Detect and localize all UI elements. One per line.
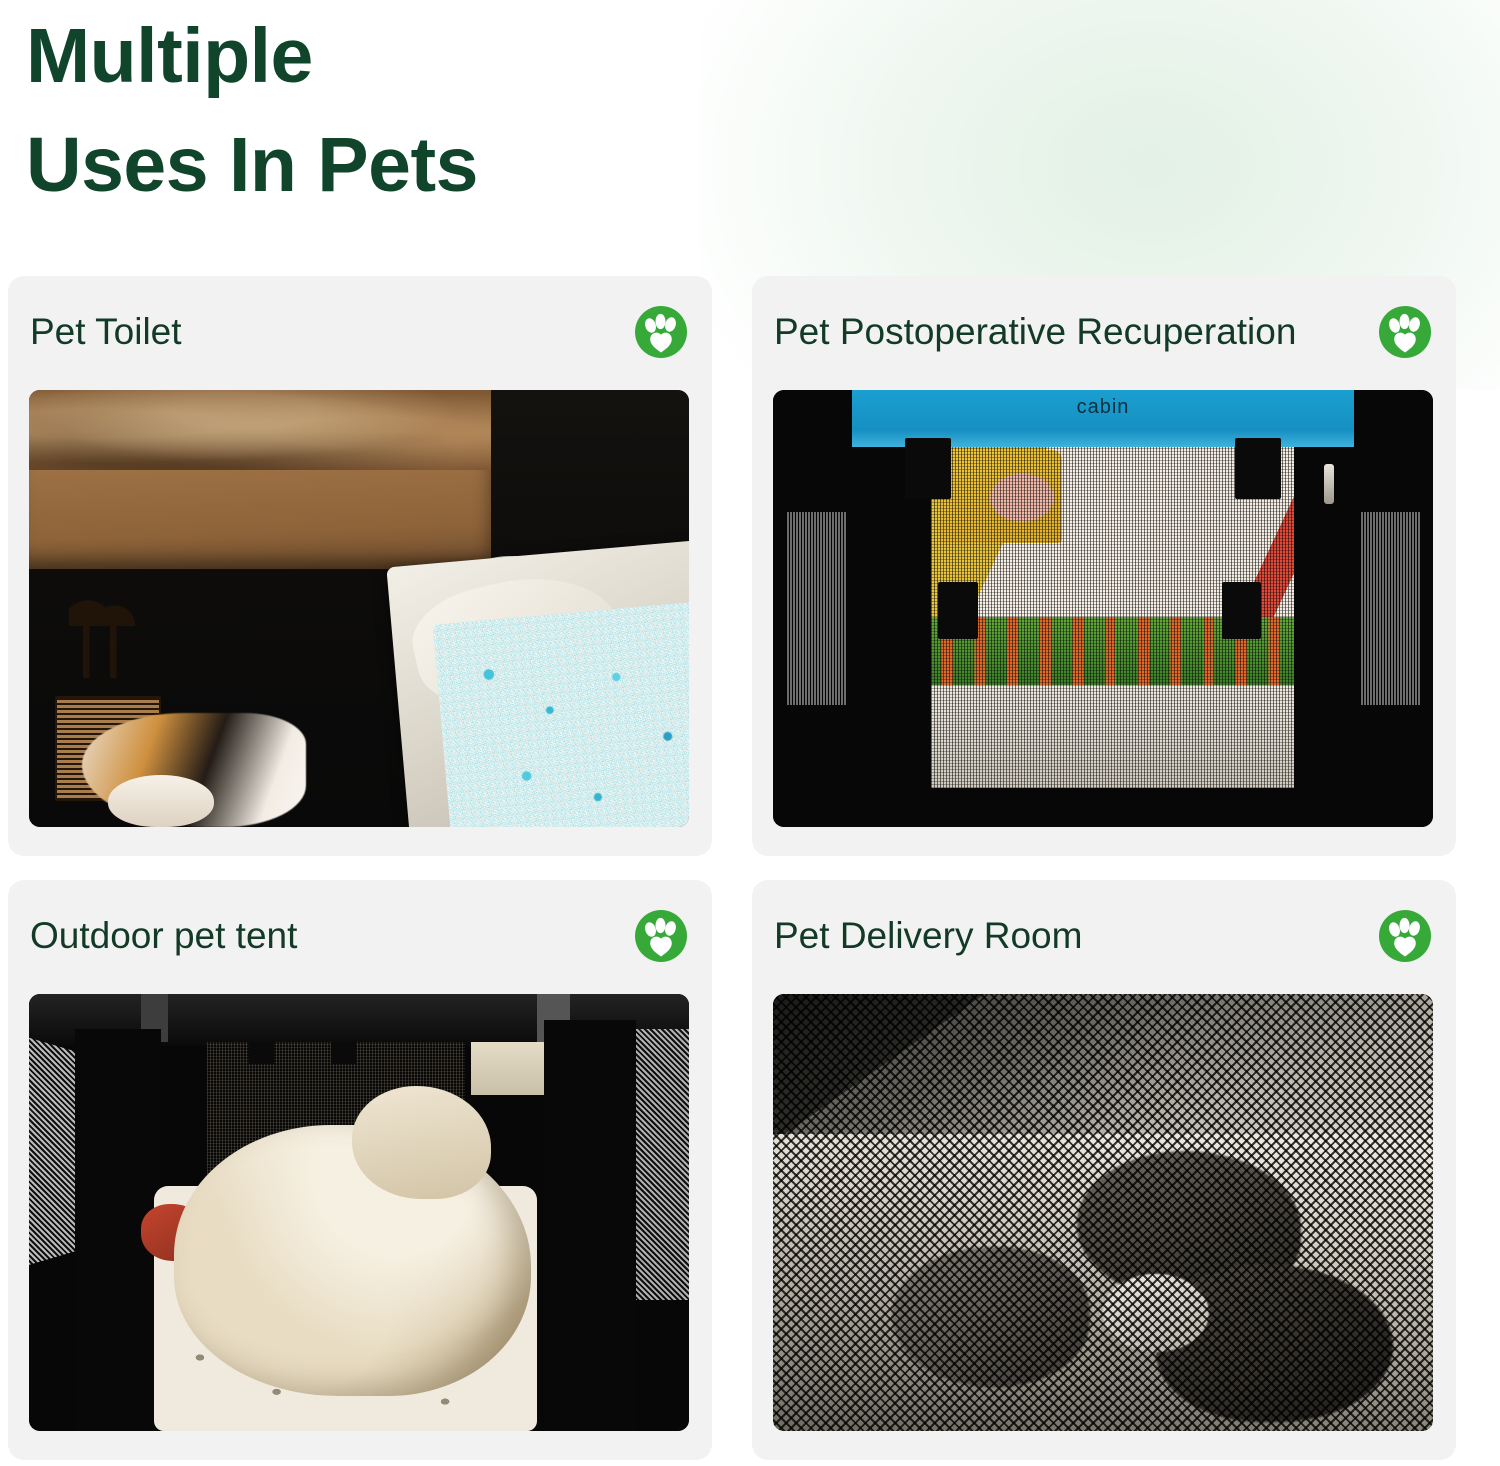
card-header: Pet Toilet [30, 302, 688, 362]
card-header: Pet Delivery Room [774, 906, 1432, 966]
card-title: Outdoor pet tent [30, 916, 297, 957]
card-title: Pet Toilet [30, 312, 182, 353]
card-header: Outdoor pet tent [30, 906, 688, 966]
card-title: Pet Postoperative Recuperation [774, 312, 1296, 353]
paw-icon [634, 909, 688, 963]
use-case-card-outdoor-pet-tent: Outdoor pet tent [8, 880, 712, 1460]
card-photo-pet-postoperative-recuperation: cabin [773, 390, 1433, 827]
page-title: Multiple Uses In Pets [26, 2, 786, 221]
infographic-page: Multiple Uses In Pets Pet Toilet [0, 0, 1500, 1466]
paw-icon [1378, 909, 1432, 963]
paw-icon [634, 305, 688, 359]
paw-icon [1378, 305, 1432, 359]
card-header: Pet Postoperative Recuperation [774, 302, 1432, 362]
card-photo-pet-delivery-room [773, 994, 1433, 1431]
use-case-card-pet-postoperative-recuperation: Pet Postoperative Recuperation cabin [752, 276, 1456, 856]
use-case-card-pet-delivery-room: Pet Delivery Room [752, 880, 1456, 1460]
card-title: Pet Delivery Room [774, 916, 1082, 957]
card-photo-pet-toilet [29, 390, 689, 827]
use-case-grid: Pet Toilet [8, 276, 1492, 1460]
use-case-card-pet-toilet: Pet Toilet [8, 276, 712, 856]
photo-caption-cabin: cabin [852, 392, 1354, 423]
card-photo-outdoor-pet-tent [29, 994, 689, 1431]
